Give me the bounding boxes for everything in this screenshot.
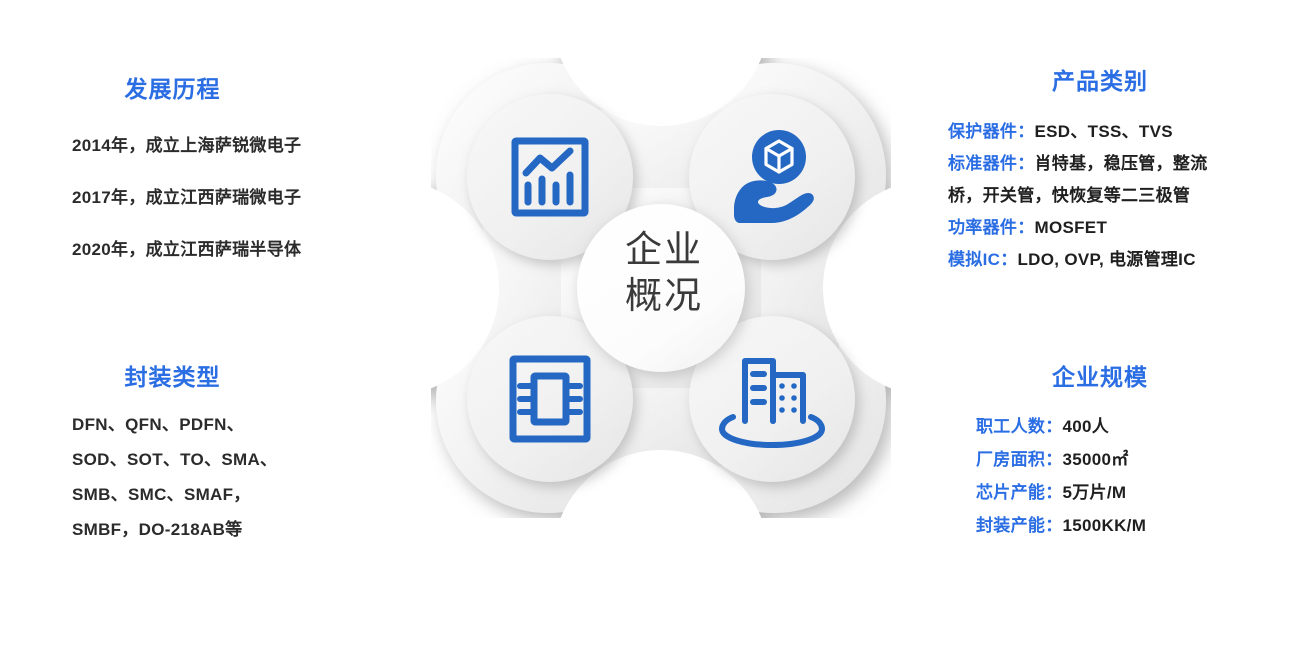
- panel-enterprise-scale: 企业规模 职工人数：400人 厂房面积：35000㎡ 芯片产能：5万片/M 封装…: [930, 358, 1303, 539]
- history-item: 2017年，成立江西萨瑞微电子: [72, 183, 420, 208]
- product-item-value: ESD、TSS、TVS: [1035, 122, 1173, 141]
- product-item: 桥，开关管，快恢复等二三极管: [948, 182, 1303, 209]
- product-item: 保护器件：ESD、TSS、TVS: [948, 118, 1303, 145]
- package-item: DFN、QFN、PDFN、: [72, 412, 420, 438]
- product-item-label: 保护器件：: [948, 122, 1035, 141]
- product-item: 功率器件：MOSFET: [948, 214, 1303, 241]
- history-item: 2020年，成立江西萨瑞半导体: [72, 235, 420, 260]
- product-item-label: 模拟IC：: [948, 250, 1018, 269]
- scale-item-label: 厂房面积：: [976, 450, 1063, 469]
- history-item: 2014年，成立上海萨锐微电子: [72, 131, 420, 156]
- product-item: 标准器件：肖特基，稳压管，整流: [948, 150, 1303, 177]
- scale-item: 厂房面积：35000㎡: [976, 446, 1303, 473]
- panel-history-heading: 发展历程: [0, 70, 345, 104]
- product-item-label: 标准器件：: [948, 154, 1035, 173]
- scale-item-label: 封装产能：: [976, 516, 1063, 535]
- panel-scale-body: 职工人数：400人 厂房面积：35000㎡ 芯片产能：5万片/M 封装产能：15…: [976, 413, 1303, 539]
- scale-item-value: 5万片/M: [1063, 483, 1127, 502]
- scale-item-value: 400人: [1063, 417, 1110, 436]
- panel-history-body: 2014年，成立上海萨锐微电子 2017年，成立江西萨瑞微电子 2020年，成立…: [0, 131, 420, 260]
- scale-item: 芯片产能：5万片/M: [976, 479, 1303, 506]
- scale-item-value: 35000㎡: [1063, 450, 1129, 469]
- package-item: SOD、SOT、TO、SMA、: [72, 447, 420, 473]
- panel-package-body: DFN、QFN、PDFN、 SOD、SOT、TO、SMA、 SMB、SMC、SM…: [72, 412, 420, 543]
- infographic-stage: 发展历程 2014年，成立上海萨锐微电子 2017年，成立江西萨瑞微电子 202…: [0, 0, 1303, 649]
- panel-package-type: 封装类型 DFN、QFN、PDFN、 SOD、SOT、TO、SMA、 SMB、S…: [0, 358, 420, 543]
- scale-item-label: 芯片产能：: [976, 483, 1063, 502]
- panel-product-body: 保护器件：ESD、TSS、TVS 标准器件：肖特基，稳压管，整流 桥，开关管，快…: [948, 118, 1303, 273]
- package-item: SMBF，DO-218AB等: [72, 517, 420, 543]
- product-item-value: 肖特基，稳压管，整流: [1035, 154, 1208, 173]
- scale-item: 职工人数：400人: [976, 413, 1303, 440]
- product-item: 模拟IC：LDO, OVP, 电源管理IC: [948, 246, 1303, 273]
- central-clover-graphic: [431, 58, 891, 518]
- scale-item: 封装产能：1500KK/M: [976, 512, 1303, 539]
- product-item-label: 功率器件：: [948, 218, 1035, 237]
- scale-item-value: 1500KK/M: [1063, 516, 1147, 535]
- scale-item-label: 职工人数：: [976, 417, 1063, 436]
- panel-history: 发展历程 2014年，成立上海萨锐微电子 2017年，成立江西萨瑞微电子 202…: [0, 70, 420, 260]
- panel-product-category: 产品类别 保护器件：ESD、TSS、TVS 标准器件：肖特基，稳压管，整流 桥，…: [930, 62, 1303, 273]
- panel-package-heading: 封装类型: [0, 358, 345, 392]
- product-item-value: LDO, OVP, 电源管理IC: [1018, 250, 1196, 269]
- panel-product-heading: 产品类别: [930, 62, 1270, 96]
- center-disc: [577, 204, 745, 372]
- package-item: SMB、SMC、SMAF，: [72, 482, 420, 508]
- product-item-value: MOSFET: [1035, 218, 1108, 237]
- panel-scale-heading: 企业规模: [930, 358, 1270, 392]
- product-item-value: 桥，开关管，快恢复等二三极管: [948, 186, 1190, 205]
